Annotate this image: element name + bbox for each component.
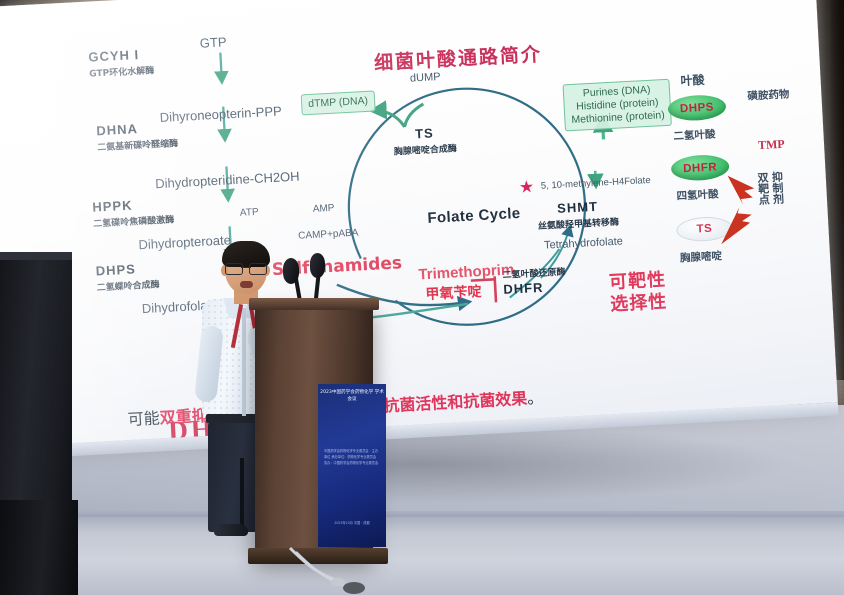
podium-banner-date: 2023年10月 中国 · 成都: [318, 520, 386, 525]
podium-banner-lines: 中国药学会药物化学专业委员会 · 主办单位 承办单位：药物化学专业委员会 协办：…: [324, 448, 380, 466]
microphone-icon-2: [310, 253, 325, 278]
pa-speaker-base: [0, 500, 78, 595]
projection-screen: 细菌叶酸通路简介 GCYH I GTP环化水解酶 DHNA 二氨基新碟呤醛缩酶 …: [0, 0, 844, 466]
presenter-shoe: [214, 524, 248, 536]
microphone-icon: [283, 258, 299, 284]
floor-cables: [250, 530, 430, 595]
screen-surface: 细菌叶酸通路简介 GCYH I GTP环化水解酶 DHNA 二氨基新碟呤醛缩酶 …: [0, 0, 838, 446]
podium-top: [249, 298, 379, 310]
podium-banner-title: 2023中国药学会药物化学 学术会议: [318, 390, 386, 404]
presenter-mouth: [240, 281, 253, 288]
pa-speaker-top: [0, 252, 72, 260]
presenter-leg-split: [240, 458, 244, 532]
presenter-shirt-placket: [242, 308, 246, 416]
conference-photo: 细菌叶酸通路简介 GCYH I GTP环化水解酶 DHNA 二氨基新碟呤醛缩酶 …: [0, 0, 844, 595]
glasses-icon: [225, 263, 267, 274]
podium-banner: 2023中国药学会药物化学 学术会议 中国药学会药物化学专业委员会 · 主办单位…: [318, 384, 386, 547]
screen-glare: [0, 0, 838, 446]
